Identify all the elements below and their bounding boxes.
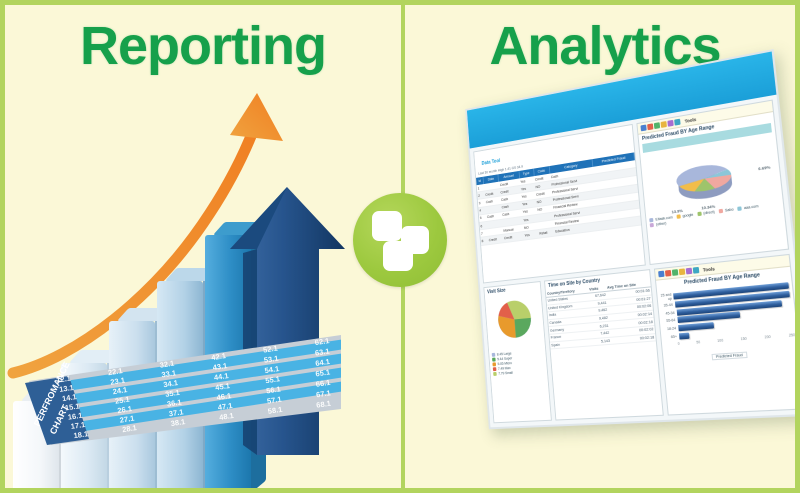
legend-swatch-icon: [697, 212, 701, 217]
legend-item: google: [676, 213, 693, 219]
bar-axis-tick: 0: [677, 342, 679, 346]
report-cell: Retail: [538, 228, 555, 238]
bar-category-label: 18-24: [663, 326, 676, 331]
report-cell: Credit: [503, 232, 524, 242]
bar-axis-tick: 150: [741, 337, 747, 342]
country-table-body: United States67,64200:01:56United Kingdo…: [546, 287, 655, 349]
bar-toolbar-label: Tools: [703, 266, 715, 272]
legend-swatch-icon: [493, 372, 497, 376]
legend-swatch-icon: [493, 367, 497, 371]
legend-swatch-icon: [650, 218, 654, 223]
bar-category-label: 55-64: [662, 318, 675, 323]
legend-swatch-icon: [492, 362, 496, 366]
bar-category-label: 45-54: [662, 311, 675, 316]
legend-swatch-icon: [650, 223, 654, 228]
visit-size-pie: [485, 292, 545, 347]
dashboard-brand: Data Tool: [477, 156, 504, 168]
logo-square-top-left: [372, 211, 402, 241]
poster-canvas: Reporting Analytics: [0, 0, 800, 493]
country-table[interactable]: Country/TerritoryVisitsAvg Time on Site …: [546, 280, 656, 349]
export-icon[interactable]: [692, 267, 699, 274]
bar-segment: [679, 332, 690, 339]
pie-toolbar-label: Tools: [684, 116, 696, 123]
performance-data-table: PERFROMANCE CHART 12.122.132.142.152.162…: [11, 335, 341, 445]
analytics-illustration: Data Tool Last 30 month High 1.41 GS 34.…: [405, 65, 800, 485]
legend-swatch-icon: [738, 206, 743, 211]
legend-item: (other): [650, 221, 666, 227]
dashboard-content: Data Tool Last 30 month High 1.41 GS 34.…: [470, 95, 800, 428]
report-cell: Yes: [523, 230, 538, 240]
legend-swatch-icon: [676, 214, 680, 219]
fraud-pie-card[interactable]: Tools Predicted Fraud BY Age Range: [637, 100, 789, 265]
chart-icon[interactable]: [658, 271, 664, 278]
bar-chart-legend: Predicted Fraud: [712, 352, 748, 361]
legend-item: aaa.com: [738, 204, 759, 211]
legend-item: Sabo: [719, 207, 734, 213]
legend-item: (direct): [697, 210, 715, 216]
table-icon[interactable]: [678, 268, 685, 275]
reporting-illustration: PERFROMANCE CHART 12.122.132.142.152.162…: [5, 83, 401, 493]
page-title-reporting: Reporting: [5, 15, 401, 77]
legend-swatch-icon: [492, 358, 496, 362]
report-table-card[interactable]: Data Tool Last 30 month High 1.41 GS 34.…: [473, 124, 646, 284]
country-cell: 5,143: [592, 337, 611, 346]
visit-size-card[interactable]: Visit Size 8.45 Large5.44 Super5.05 Micr…: [483, 281, 552, 423]
filter-icon[interactable]: [685, 268, 692, 275]
bar-category-label: 65+: [664, 334, 677, 339]
fraud-bar-card[interactable]: Tools Predicted Fraud BY Age Range 25 an…: [654, 254, 800, 416]
bar-axis-tick: 200: [764, 335, 771, 340]
bar-axis-tick: 250: [789, 333, 796, 338]
bar-icon[interactable]: [672, 269, 679, 276]
pie-icon[interactable]: [665, 270, 671, 277]
dashboard-perspective-wrapper: Data Tool Last 30 month High 1.41 GS 34.…: [465, 50, 800, 426]
table-icon[interactable]: [661, 121, 667, 128]
export-icon[interactable]: [675, 119, 681, 126]
legend-swatch-icon: [492, 353, 496, 357]
visit-size-legend: 8.45 Large5.44 Super5.05 Micro7.49 Max7.…: [489, 347, 547, 378]
country-table-card[interactable]: Time on Site by Country Country/Territor…: [544, 269, 663, 420]
legend-swatch-icon: [719, 209, 724, 214]
chart-icon[interactable]: [641, 124, 647, 131]
dashboard-window[interactable]: Data Tool Last 30 month High 1.41 GS 34.…: [465, 49, 800, 429]
filter-icon[interactable]: [668, 120, 674, 127]
bar-axis-tick: 100: [717, 338, 723, 343]
report-cell: Credit: [488, 235, 504, 245]
bar-axis-tick: 50: [696, 340, 700, 344]
bar-category-label: 35-44: [661, 303, 673, 308]
bar-icon[interactable]: [654, 122, 660, 129]
bar-category-label: 25 and up: [660, 292, 672, 301]
pie-icon[interactable]: [647, 123, 653, 130]
dashboard-row-bottom: Visit Size 8.45 Large5.44 Super5.05 Micr…: [483, 254, 800, 423]
